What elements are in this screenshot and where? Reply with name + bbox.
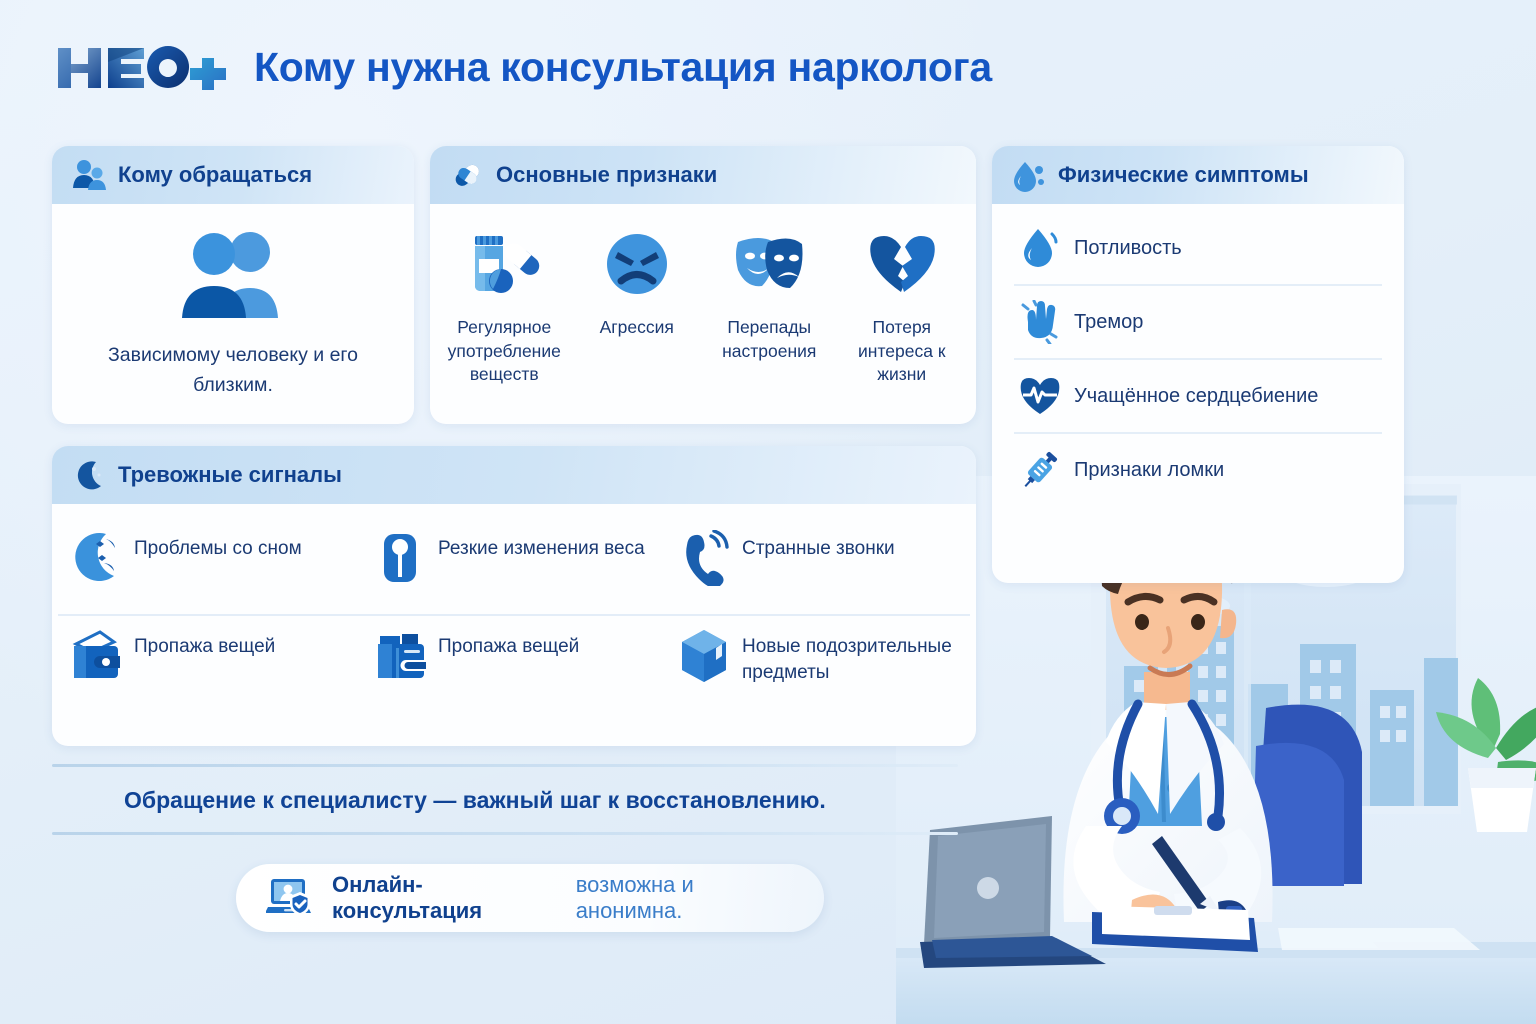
sign-label: Регулярное употребление веществ [440, 316, 569, 387]
heart-pulse-icon [1020, 374, 1060, 418]
syringe-icon [1020, 448, 1060, 492]
alarm-label: Резкие изменения веса [438, 530, 645, 562]
alarm-label: Новые подозрительные предметы [742, 628, 956, 685]
card-who-to-contact: Кому обращаться Зависимому человеку и ег… [52, 146, 414, 424]
card-who-text: Зависимому человеку и его близким. [72, 340, 394, 400]
alarm-item: Пропажа вещей [362, 614, 666, 710]
alarm-label: Пропажа вещей [438, 628, 579, 660]
sign-item: Перепады настроения [705, 226, 834, 387]
card-physical-symptoms: Физические симптомы Потливость Тремор [992, 146, 1404, 583]
tagline-text: Обращение к специалисту — важный шаг к в… [52, 767, 958, 832]
list-item: Тремор [1014, 286, 1382, 360]
sign-item: Агрессия [573, 226, 702, 387]
open-wallet-icon [70, 628, 122, 684]
card-main-signs: Основные признаки [430, 146, 976, 424]
list-item: Учащённое сердцебиение [1014, 360, 1382, 434]
alarm-item: Резкие изменения веса [362, 518, 666, 614]
tagline-block: Обращение к специалисту — важный шаг к в… [52, 764, 958, 835]
two-people-icon [168, 230, 298, 318]
card-signs-title: Основные признаки [496, 162, 717, 188]
list-label: Тремор [1074, 309, 1143, 335]
alarm-label: Пропажа вещей [134, 628, 275, 660]
water-drop-icon [1012, 158, 1046, 192]
card-alarm-title: Тревожные сигналы [118, 462, 342, 488]
closed-wallet-icon [374, 628, 426, 684]
neo-plus-logo [52, 36, 232, 98]
moon-icon [72, 458, 106, 492]
list-label: Признаки ломки [1074, 457, 1224, 483]
moon-stars-icon [70, 530, 122, 586]
sign-label: Агрессия [600, 316, 674, 340]
shaking-hand-icon [1020, 300, 1060, 344]
alarm-label: Странные звонки [742, 530, 895, 562]
card-signs-header: Основные признаки [430, 146, 976, 204]
broken-heart-icon [863, 226, 941, 304]
weight-scale-icon [374, 530, 426, 586]
card-who-title: Кому обращаться [118, 162, 312, 188]
pills-icon [450, 158, 484, 192]
theater-masks-icon [730, 226, 808, 304]
package-box-icon [678, 628, 730, 684]
laptop-shield-check-icon [266, 876, 316, 920]
alarm-item: Странные звонки [666, 518, 970, 614]
card-physical-title: Физические симптомы [1058, 162, 1309, 188]
card-alarm-header: Тревожные сигналы [52, 446, 976, 504]
people-icon [72, 158, 106, 192]
card-alarm-signals: Тревожные сигналы Проблемы со сном [52, 446, 976, 746]
list-item: Потливость [1014, 212, 1382, 286]
list-label: Потливость [1074, 235, 1182, 261]
header: Кому нужна консультация нарколога [52, 36, 992, 98]
card-physical-header: Физические симптомы [992, 146, 1404, 204]
badge-strong-text: Онлайн-консультация [332, 872, 560, 924]
online-consultation-badge: Онлайн-консультация возможна и анонимна. [236, 864, 824, 932]
page-title: Кому нужна консультация нарколога [254, 44, 992, 91]
droplet-icon [1020, 226, 1060, 270]
infographic-canvas: Кому нужна консультация нарколога Кому о… [0, 0, 1536, 1024]
list-label: Учащённое сердцебиение [1074, 383, 1318, 409]
divider-bottom [52, 832, 958, 835]
sign-item: Потеря интереса к жизни [838, 226, 967, 387]
list-item: Признаки ломки [1014, 434, 1382, 506]
sign-label: Перепады настроения [705, 316, 834, 363]
sign-label: Потеря интереса к жизни [838, 316, 967, 387]
sign-item: Регулярное употребление веществ [440, 226, 569, 387]
alarm-item: Новые подозрительные предметы [666, 614, 970, 710]
alarm-label: Проблемы со сном [134, 530, 302, 562]
angry-face-icon [598, 226, 676, 304]
alarm-item: Пропажа вещей [58, 614, 362, 710]
alarm-item: Проблемы со сном [58, 518, 362, 614]
pill-bottle-icon [465, 226, 543, 304]
phone-ringing-icon [678, 530, 730, 586]
card-who-header: Кому обращаться [52, 146, 414, 204]
badge-rest-text: возможна и анонимна. [576, 872, 794, 924]
